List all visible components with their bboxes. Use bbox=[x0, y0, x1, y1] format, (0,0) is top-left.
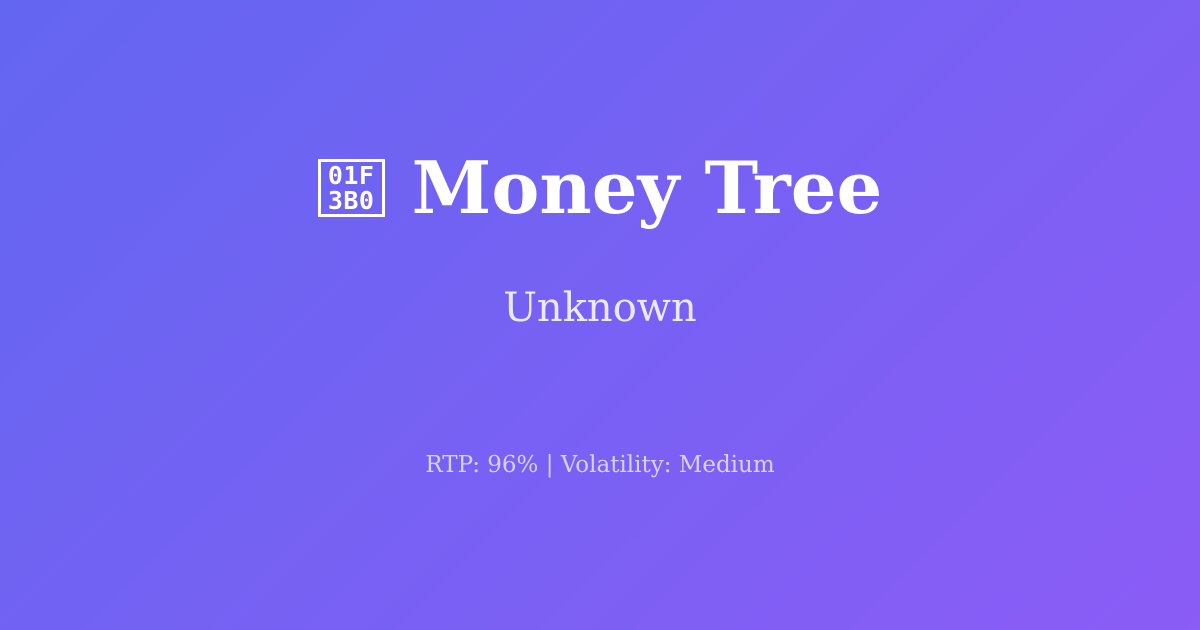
slot-machine-icon: 01F 3B0 bbox=[318, 159, 385, 217]
page-title: Money Tree bbox=[412, 150, 883, 226]
title-row: 01F 3B0 Money Tree bbox=[0, 150, 1200, 226]
game-preview-card: 01F 3B0 Money Tree Unknown RTP: 96% | Vo… bbox=[0, 0, 1200, 630]
slot-machine-icon-codepoint-line2: 3B0 bbox=[328, 188, 375, 213]
hero-block: 01F 3B0 Money Tree Unknown RTP: 96% | Vo… bbox=[0, 150, 1200, 480]
game-provider-subtitle: Unknown bbox=[503, 226, 697, 332]
game-stats-line: RTP: 96% | Volatility: Medium bbox=[425, 332, 774, 480]
slot-machine-icon-codepoint-line1: 01F bbox=[328, 163, 375, 188]
